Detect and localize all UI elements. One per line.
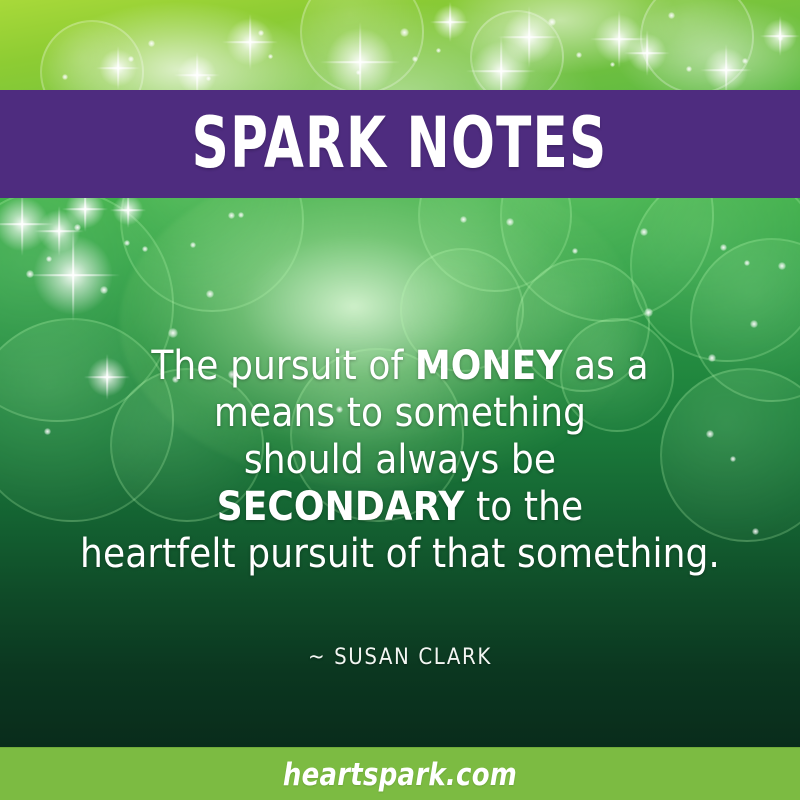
sparkle-dot-icon	[148, 40, 155, 47]
sparkle-star-icon	[222, 14, 278, 70]
sparkle-dot-icon	[124, 240, 130, 246]
sparkle-star-icon	[430, 2, 470, 42]
sparkle-dot-icon	[190, 242, 196, 248]
quote-segment: should always be	[244, 437, 556, 483]
bokeh-circle	[300, 0, 424, 90]
sparkle-dot-icon	[668, 12, 675, 19]
sparkle-dot-icon	[100, 286, 108, 294]
sparkle-dot-icon	[744, 260, 750, 266]
quote-line-5: heartfelt pursuit of that something.	[0, 531, 800, 578]
sparkle-dot-icon	[506, 218, 514, 226]
sparkle-dot-icon	[238, 212, 244, 218]
quote-emphasis: MONEY	[415, 343, 563, 389]
sparkle-dot-icon	[74, 224, 81, 231]
quote-segment: as a	[562, 343, 648, 389]
sparkle-dot-icon	[356, 70, 361, 75]
sparkle-dot-icon	[644, 308, 653, 317]
sparkle-dot-icon	[548, 18, 556, 26]
page-title: SPARK NOTES	[192, 108, 608, 178]
top-sparkle-band	[0, 0, 800, 90]
sparkle-dot-icon	[778, 262, 786, 270]
quote-line-4: SECONDARY to the	[0, 484, 800, 531]
quote-segment: to the	[465, 484, 584, 530]
bokeh-circle	[40, 20, 144, 90]
sparkle-dot-icon	[400, 28, 409, 37]
sparkle-dot-icon	[572, 248, 578, 254]
sparkle-dot-icon	[436, 48, 441, 53]
sparkle-dot-icon	[460, 216, 467, 223]
quote-text: The pursuit of MONEY as a means to somet…	[0, 343, 800, 578]
sparkle-dot-icon	[206, 76, 211, 81]
sparkle-dot-icon	[720, 244, 727, 251]
quote-line-2: means to something	[0, 390, 800, 437]
sparkle-dot-icon	[258, 30, 264, 36]
quote-card: SPARK NOTES	[0, 0, 800, 800]
sparkle-dot-icon	[142, 246, 148, 252]
quote-line-3: should always be	[0, 437, 800, 484]
sparkle-dot-icon	[128, 56, 134, 62]
sparkle-dot-icon	[168, 328, 178, 338]
sparkle-dot-icon	[610, 62, 615, 67]
quote-segment: The pursuit of	[151, 343, 415, 389]
quote-emphasis: SECONDARY	[217, 484, 465, 530]
footer-bar: heartspark.com	[0, 747, 800, 800]
quote-segment: heartfelt pursuit of that something.	[80, 531, 720, 577]
sparkle-dot-icon	[750, 320, 758, 328]
sparkle-dot-icon	[742, 58, 748, 64]
sparkle-dot-icon	[640, 228, 648, 236]
website-url[interactable]: heartspark.com	[283, 757, 517, 793]
bokeh-circle	[640, 0, 754, 90]
quote-attribution: ~ SUSAN CLARK	[0, 645, 800, 670]
quote-segment: means to something	[214, 390, 586, 436]
sparkle-dot-icon	[686, 66, 692, 72]
sparkle-dot-icon	[62, 74, 68, 80]
sparkle-dot-icon	[206, 290, 214, 298]
quote-line-1: The pursuit of MONEY as a	[0, 343, 800, 390]
header-banner: SPARK NOTES	[0, 90, 800, 198]
sparkle-dot-icon	[778, 36, 783, 41]
sparkle-dot-icon	[228, 212, 235, 219]
sparkle-dot-icon	[268, 54, 273, 59]
sparkle-star-icon	[174, 52, 220, 90]
sparkle-dot-icon	[26, 270, 34, 278]
sparkle-dot-icon	[576, 52, 582, 58]
sparkle-dot-icon	[46, 256, 52, 262]
sparkle-dot-icon	[412, 56, 418, 62]
